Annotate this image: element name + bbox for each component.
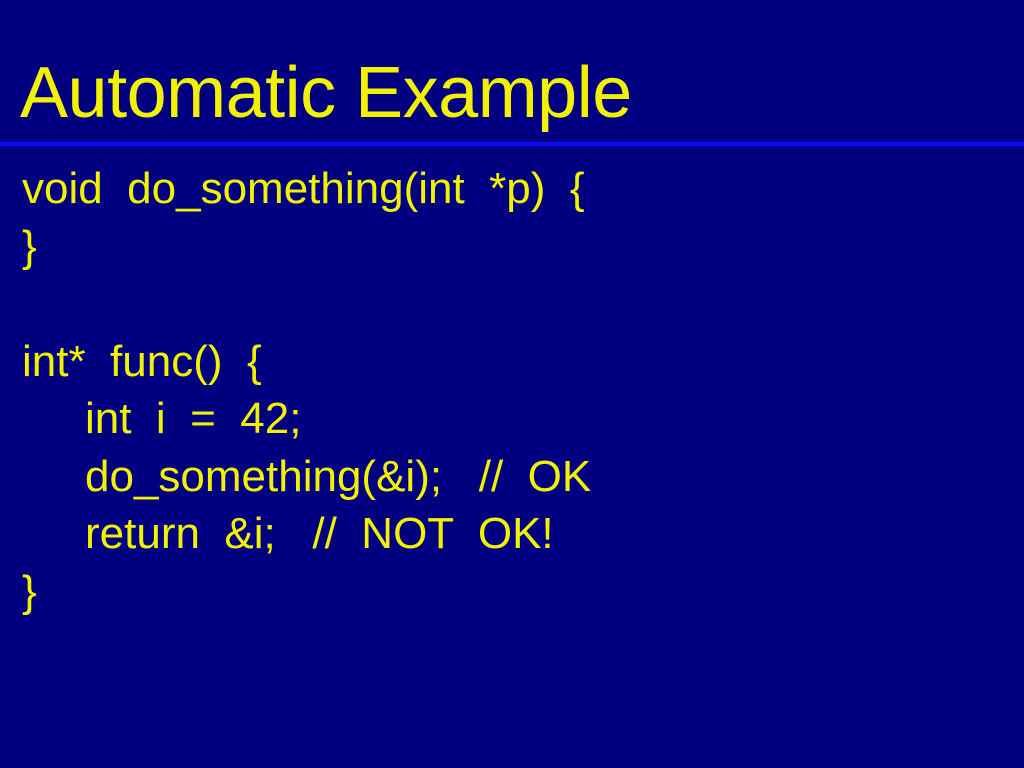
code-line: }: [22, 218, 1012, 276]
code-line: int* func() {: [22, 333, 1012, 391]
code-line: void do_something(int *p) {: [22, 160, 1012, 218]
code-block: void do_something(int *p) { } int* func(…: [22, 160, 1012, 620]
code-line: do_something(&i); // OK: [22, 448, 1012, 506]
page-title: Automatic Example: [20, 54, 1004, 132]
code-line: return &i; // NOT OK!: [22, 505, 1012, 563]
title-divider: [0, 142, 1024, 146]
code-line: }: [22, 563, 1012, 621]
code-line-blank: [22, 275, 1012, 333]
code-line: int i = 42;: [22, 390, 1012, 448]
slide-canvas: Automatic Example void do_something(int …: [0, 0, 1024, 768]
